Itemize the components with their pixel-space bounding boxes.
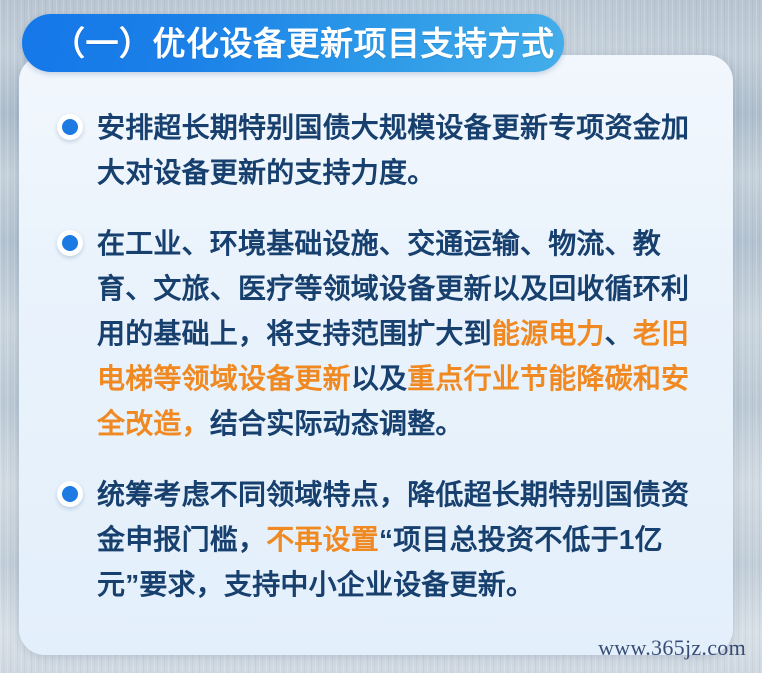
- list-item-text: 安排超长期特别国债大规模设备更新专项资金加大对设备更新的支持力度。: [97, 105, 699, 195]
- section-header-pill: （一）优化设备更新项目支持方式: [22, 14, 564, 72]
- bullet-dot-icon: [57, 230, 83, 256]
- text-segment: 、: [605, 318, 633, 349]
- list-item: 安排超长期特别国债大规模设备更新专项资金加大对设备更新的支持力度。: [57, 105, 699, 195]
- text-segment: 结合实际动态调整。: [210, 408, 464, 439]
- bullet-dot-icon: [57, 481, 83, 507]
- highlighted-phrase: 不再设置: [266, 524, 379, 555]
- text-segment: 以及: [351, 363, 407, 394]
- bullet-dot-icon: [57, 114, 83, 140]
- highlighted-phrase: 能源电力: [492, 318, 605, 349]
- text-segment: 安排超长期特别国债大规模设备更新专项资金加大对设备更新的支持力度。: [97, 112, 689, 188]
- bullet-list: 安排超长期特别国债大规模设备更新专项资金加大对设备更新的支持力度。在工业、环境基…: [19, 105, 733, 607]
- list-item: 在工业、环境基础设施、交通运输、物流、教育、文旅、医疗等领域设备更新以及回收循环…: [57, 221, 699, 446]
- list-item: 统筹考虑不同领域特点，降低超长期特别国债资金申报门槛，不再设置“项目总投资不低于…: [57, 472, 699, 607]
- infographic-page: 安排超长期特别国债大规模设备更新专项资金加大对设备更新的支持力度。在工业、环境基…: [0, 0, 762, 673]
- watermark: www.365jz.com: [598, 635, 746, 661]
- list-item-text: 统筹考虑不同领域特点，降低超长期特别国债资金申报门槛，不再设置“项目总投资不低于…: [97, 472, 699, 607]
- page-title: （一）优化设备更新项目支持方式: [22, 27, 555, 60]
- content-card: 安排超长期特别国债大规模设备更新专项资金加大对设备更新的支持力度。在工业、环境基…: [19, 55, 733, 655]
- list-item-text: 在工业、环境基础设施、交通运输、物流、教育、文旅、医疗等领域设备更新以及回收循环…: [97, 221, 699, 446]
